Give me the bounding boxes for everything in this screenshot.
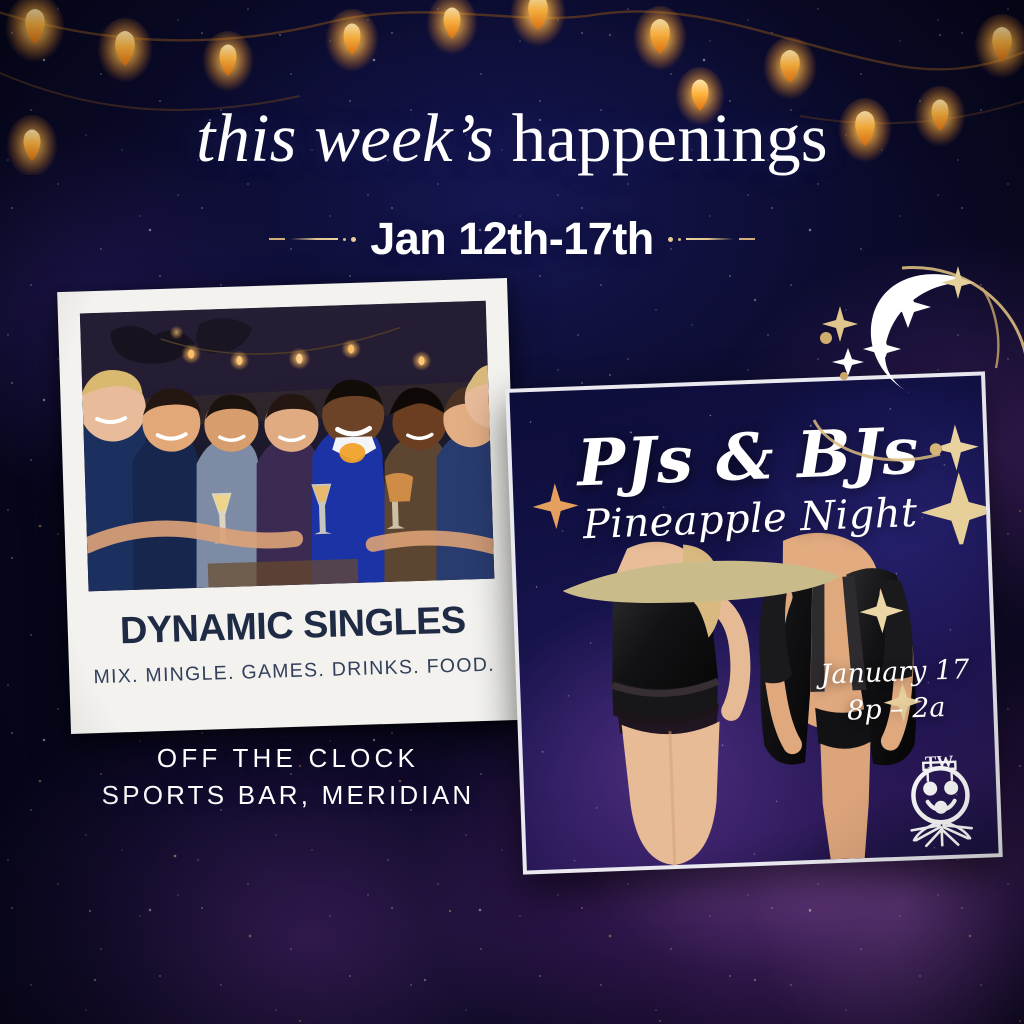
flourish-left-icon xyxy=(269,237,356,242)
poster-canvas: this week’s happenings Jan 12th-17th xyxy=(0,0,1024,1024)
date-range-text: Jan 12th-17th xyxy=(370,213,654,265)
venue-line-2: SPORTS BAR, MERIDIAN xyxy=(58,777,518,814)
headline-roman-part: happenings xyxy=(512,100,828,176)
page-title: this week’s happenings xyxy=(0,104,1024,173)
polaroid-caption: DYNAMIC SINGLES MIX. MINGLE. GAMES. DRIN… xyxy=(89,579,498,690)
flourish-right-icon xyxy=(668,237,755,242)
party-photo xyxy=(80,301,495,592)
event-title: DYNAMIC SINGLES xyxy=(89,601,496,652)
headline-italic-part: this week’s xyxy=(196,100,494,176)
logo-text: TW xyxy=(925,752,954,772)
venue-line-1: OFF THE CLOCK xyxy=(58,740,518,777)
moon-star-cluster-icon xyxy=(790,248,1024,478)
event-two-time: 8p – 2a xyxy=(821,691,972,729)
four-point-star-icon-mid xyxy=(847,578,920,651)
event-two-when: January 17 8p – 2a xyxy=(819,654,971,729)
venue-block: OFF THE CLOCK SPORTS BAR, MERIDIAN xyxy=(58,740,518,814)
event-two-date: January 17 xyxy=(819,654,970,692)
pineapple-triskelion-logo-icon[interactable]: TW xyxy=(893,742,989,849)
event-card-dynamic-singles[interactable]: DYNAMIC SINGLES MIX. MINGLE. GAMES. DRIN… xyxy=(57,278,521,734)
event-subtitle: MIX. MINGLE. GAMES. DRINKS. FOOD. xyxy=(91,654,498,690)
